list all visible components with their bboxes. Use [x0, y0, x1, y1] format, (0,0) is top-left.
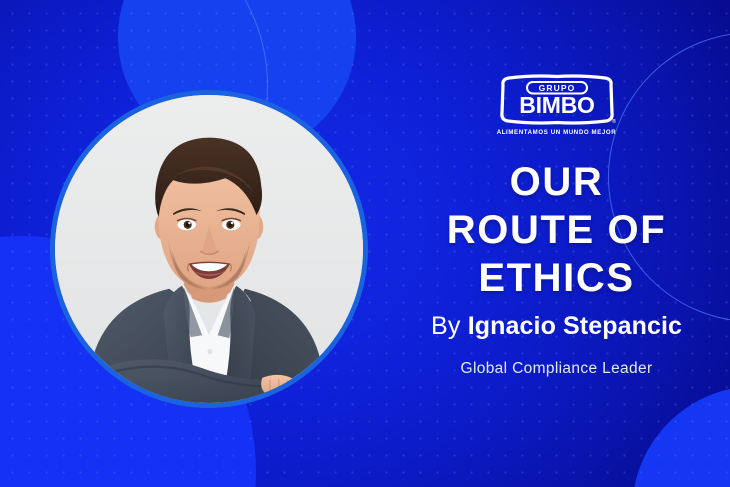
- speaker-name: Ignacio Stepancic: [468, 312, 682, 340]
- svg-text:GRUPO: GRUPO: [538, 83, 575, 93]
- page-title: OUR ROUTE OF ETHICS: [447, 158, 666, 302]
- svg-text:BIMBO: BIMBO: [519, 92, 594, 118]
- speaker-byline: By Ignacio Stepancic: [431, 311, 682, 341]
- svg-text:®: ®: [611, 118, 615, 125]
- presentation-banner: GRUPO BIMBO ® ALIMENTAMOS UN MUNDO MEJOR…: [0, 0, 730, 487]
- content-column: GRUPO BIMBO ® ALIMENTAMOS UN MUNDO MEJOR…: [383, 0, 730, 487]
- title-line-2: ROUTE OF: [447, 206, 666, 254]
- grupo-bimbo-logo: GRUPO BIMBO ® ALIMENTAMOS UN MUNDO MEJOR: [496, 74, 618, 140]
- speaker-role: Global Compliance Leader: [461, 360, 653, 378]
- title-line-3: ETHICS: [447, 254, 666, 302]
- logo-tagline: ALIMENTAMOS UN MUNDO MEJOR: [496, 129, 618, 136]
- speaker-portrait: [50, 90, 368, 408]
- grupo-bimbo-logo-icon: GRUPO BIMBO ®: [496, 74, 618, 126]
- portrait-illustration: [55, 95, 363, 403]
- title-line-1: OUR: [447, 158, 666, 206]
- byline-prefix: By: [431, 312, 468, 340]
